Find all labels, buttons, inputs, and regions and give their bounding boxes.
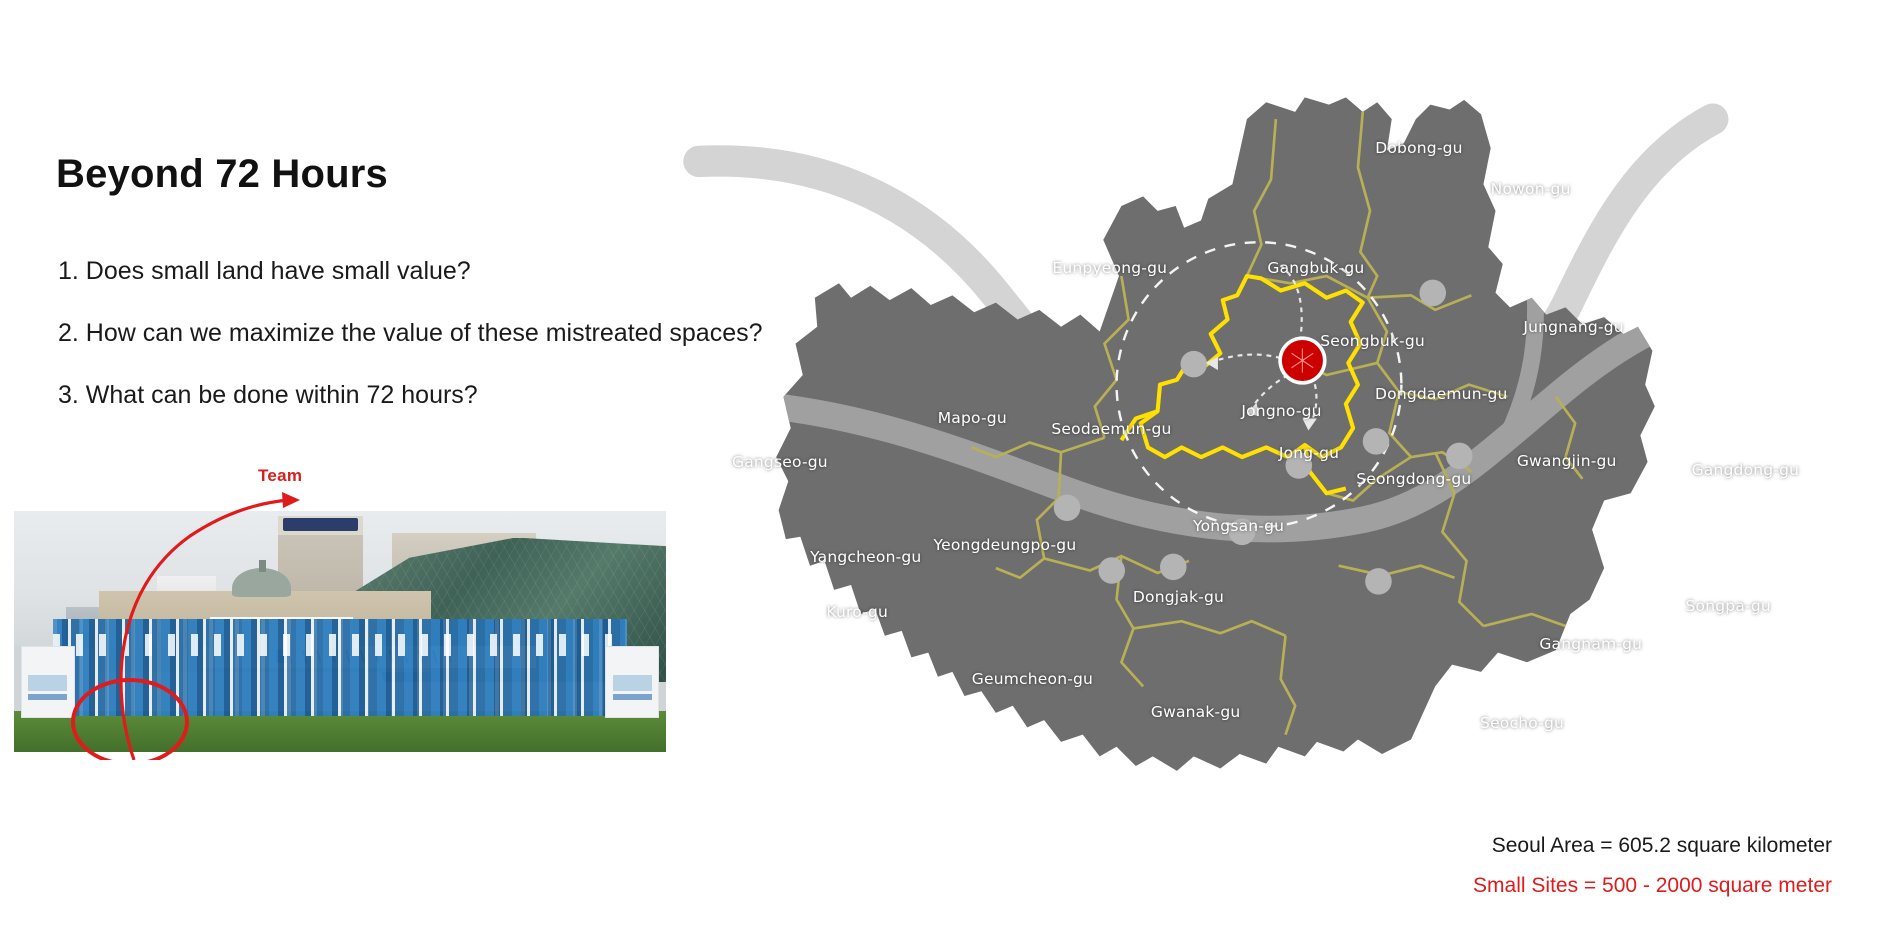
- district-label-gwangjin-gu: Gwangjin-gu: [1517, 452, 1617, 470]
- district-label-seocho-gu: Seocho-gu: [1480, 714, 1564, 732]
- district-label-gangseo-gu: Gangseo-gu: [732, 453, 828, 471]
- district-label-yeongdeungpo-gu: Yeongdeungpo-gu: [934, 536, 1077, 554]
- district-label-jong-gu: Jong-gu: [1279, 444, 1339, 462]
- photo-building-signboard: [283, 518, 358, 531]
- slide-canvas: Beyond 72 Hours 1. Does small land have …: [0, 0, 1900, 927]
- district-label-dongdaemun-gu: Dongdaemun-gu: [1375, 385, 1508, 403]
- district-label-gangbuk-gu: Gangbuk-gu: [1267, 259, 1364, 277]
- photo-standee-left: [21, 646, 75, 718]
- caption-small-sites: Small Sites = 500 - 2000 square meter: [1473, 874, 1832, 898]
- district-label-seodaemun-gu: Seodaemun-gu: [1051, 420, 1171, 438]
- photo-standee-footer: [28, 694, 68, 701]
- photo-hard-hats: [53, 634, 627, 656]
- district-label-yangcheon-gu: Yangcheon-gu: [810, 548, 921, 566]
- page-title: Beyond 72 Hours: [56, 152, 388, 197]
- district-label-nowon-gu: Nowon-gu: [1491, 180, 1571, 198]
- district-label-geumcheon-gu: Geumcheon-gu: [972, 670, 1093, 688]
- district-label-songpa-gu: Songpa-gu: [1686, 597, 1771, 615]
- map-svg: [560, 95, 1900, 795]
- district-label-gangnam-gu: Gangnam-gu: [1539, 635, 1642, 653]
- district-label-seongbuk-gu: Seongbuk-gu: [1320, 332, 1425, 350]
- district-label-seongdong-gu: Seongdong-gu: [1356, 470, 1471, 488]
- district-label-eunpyeong-gu: Eunpyeong-gu: [1052, 259, 1167, 277]
- district-label-dongjak-gu: Dongjak-gu: [1133, 588, 1224, 606]
- district-label-yongsan-gu: Yongsan-gu: [1193, 517, 1284, 535]
- photo-standee-graphic: [28, 675, 68, 690]
- caption-seoul-area: Seoul Area = 605.2 square kilometer: [1492, 834, 1832, 858]
- district-label-jungnang-gu: Jungnang-gu: [1523, 318, 1624, 336]
- district-label-dobong-gu: Dobong-gu: [1375, 139, 1462, 157]
- team-annotation-label: Team: [258, 466, 302, 486]
- seoul-district-map: Dobong-guNowon-guEunpyeong-guGangbuk-guJ…: [560, 95, 1900, 795]
- district-label-jongno-gu: Jongno-gu: [1241, 402, 1321, 420]
- team-arrow-head: [282, 492, 300, 508]
- district-label-gwanak-gu: Gwanak-gu: [1151, 703, 1241, 721]
- district-label-mapo-gu: Mapo-gu: [938, 409, 1007, 427]
- district-label-kuro-gu: Kuro-gu: [826, 603, 888, 621]
- photo-spire: [259, 560, 266, 572]
- district-label-gangdong-gu: Gangdong-gu: [1692, 461, 1800, 479]
